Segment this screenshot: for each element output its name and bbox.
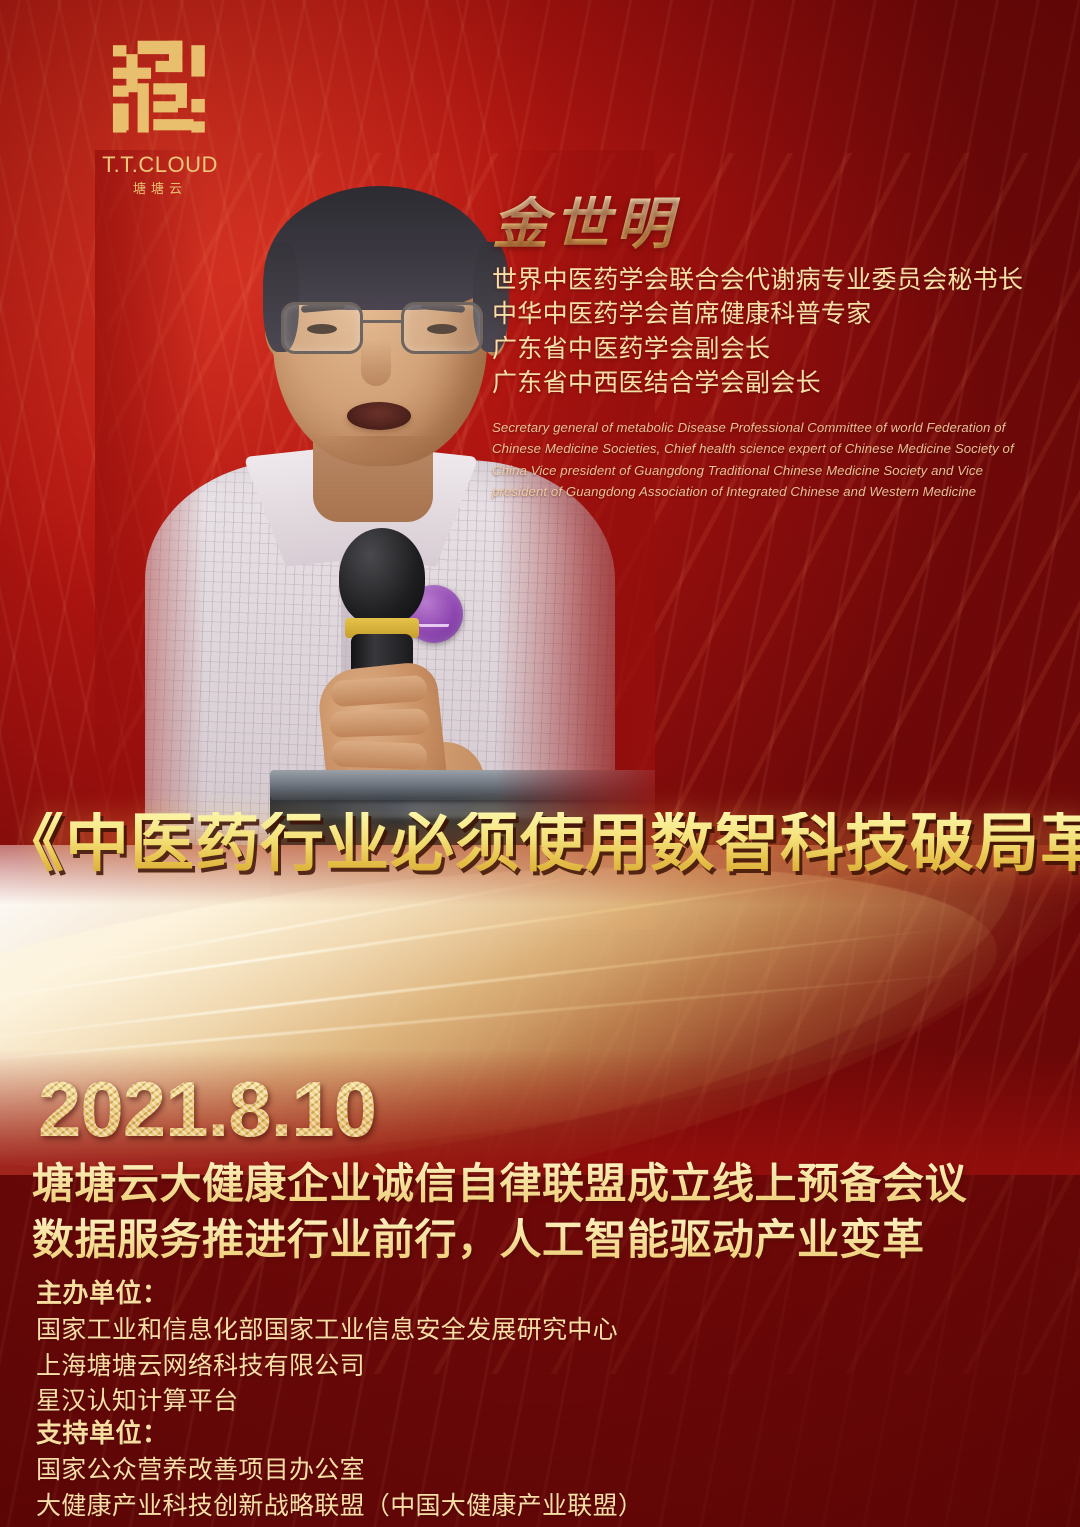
event-date: 2021.8.10 bbox=[38, 1070, 376, 1148]
glasses-lens-left bbox=[281, 302, 363, 354]
speaker-title-2: 中华中医药学会首席健康科普专家 bbox=[492, 297, 1048, 332]
logo-wordmark: T.T.CLOUD bbox=[70, 154, 250, 176]
speaker-english-bio: Secretary general of metabolic Disease P… bbox=[492, 417, 1020, 503]
event-headline-secondary: 数据服务推进行业前行，人工智能驱动产业变革 bbox=[32, 1214, 1042, 1270]
speaker-title-4: 广东省中西医结合学会副会长 bbox=[492, 366, 1048, 401]
speaker-name: 金世明 bbox=[492, 196, 1048, 255]
finger-3 bbox=[331, 740, 428, 769]
glasses-lens-right bbox=[401, 302, 483, 354]
support-organizers-heading: 支持单位： bbox=[36, 1416, 836, 1451]
speaker-title-3: 广东省中医药学会副会长 bbox=[492, 332, 1048, 367]
support-organizers-block: 支持单位： 国家公众营养改善项目办公室 大健康产业科技创新战略联盟（中国大健康产… bbox=[36, 1416, 836, 1524]
brand-logo: T.T.CLOUD 塘塘云 bbox=[70, 34, 250, 195]
talk-title: 《中医药行业必须使用数智科技破局革新》 bbox=[0, 812, 1080, 876]
finger-2 bbox=[329, 708, 430, 737]
microphone-head bbox=[339, 528, 425, 626]
event-headline-block: 塘塘云大健康企业诚信自律联盟成立线上预备会议 数据服务推进行业前行，人工智能驱动… bbox=[32, 1158, 1042, 1270]
speaker-hair bbox=[265, 186, 495, 310]
nose bbox=[361, 340, 391, 386]
speaker-title-1: 世界中医药学会联合会代谢病专业委员会秘书长 bbox=[492, 263, 1048, 298]
chin-shadow bbox=[317, 436, 443, 470]
tt-cloud-seal-logo-icon bbox=[104, 34, 216, 146]
glasses-bridge bbox=[363, 320, 401, 323]
host-organizer-item: 国家工业和信息化部国家工业信息安全发展研究中心 bbox=[36, 1313, 836, 1349]
speaker-info-block: 金世明 世界中医药学会联合会代谢病专业委员会秘书长 中华中医药学会首席健康科普专… bbox=[492, 196, 1048, 502]
logo-chinese-name: 塘塘云 bbox=[70, 182, 250, 195]
mouth bbox=[347, 402, 411, 430]
event-headline-primary: 塘塘云大健康企业诚信自律联盟成立线上预备会议 bbox=[32, 1158, 1042, 1214]
host-organizer-item: 上海塘塘云网络科技有限公司 bbox=[36, 1349, 836, 1385]
support-organizer-item: 大健康产业科技创新战略联盟（中国大健康产业联盟） bbox=[36, 1489, 836, 1525]
support-organizer-item: 国家公众营养改善项目办公室 bbox=[36, 1453, 836, 1489]
conference-poster: T.T.CLOUD 塘塘云 金世明 世界中医药学会联合会代谢病专业委员会秘书长 … bbox=[0, 0, 1080, 1527]
host-organizers-block: 主办单位： 国家工业和信息化部国家工业信息安全发展研究中心 上海塘塘云网络科技有… bbox=[36, 1276, 836, 1420]
host-organizers-heading: 主办单位： bbox=[36, 1276, 836, 1311]
host-organizer-item: 星汉认知计算平台 bbox=[36, 1384, 836, 1420]
